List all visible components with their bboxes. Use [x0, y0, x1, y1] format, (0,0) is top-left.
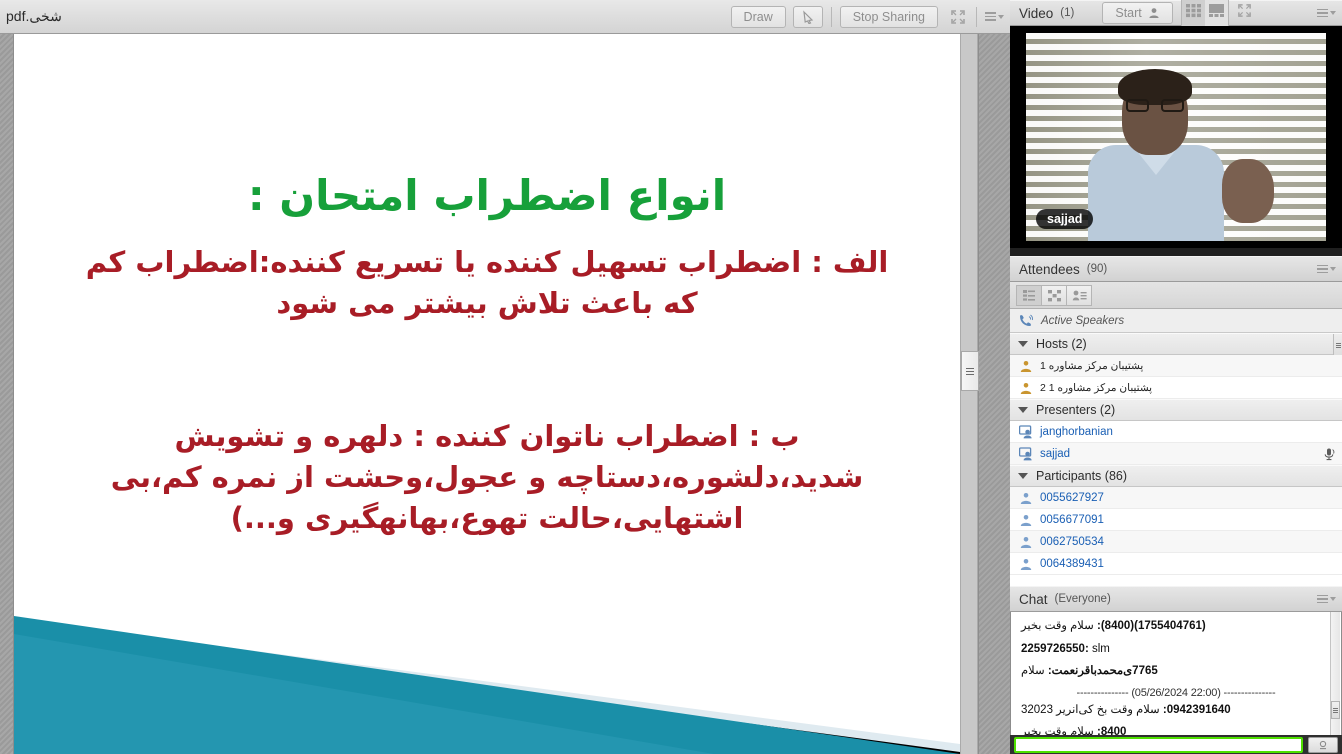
slide-paragraph-a: الف : اضطراب تسهیل کننده یا تسریع کننده:…	[74, 242, 900, 324]
participant-icon	[1019, 535, 1033, 549]
share-panel-splitter[interactable]	[960, 34, 978, 754]
left-hatch-border	[0, 34, 14, 754]
chat-pod-title: Chat	[1019, 592, 1048, 607]
attendee-row[interactable]: 0062750534	[1010, 531, 1342, 553]
pods-view-icon[interactable]	[1041, 285, 1067, 306]
menu-bars	[1317, 265, 1328, 274]
attendees-count: (90)	[1087, 263, 1107, 275]
video-feed[interactable]: sajjad	[1010, 26, 1342, 248]
host-screen-icon	[1019, 381, 1033, 395]
share-pod: شخی.pdf Draw Stop Sharing	[0, 0, 1010, 754]
attendees-list[interactable]: Hosts (2)پشتیبان مرکز مشاوره 1پشتیبان مر…	[1010, 333, 1342, 612]
share-body: انواع اضطراب امتحان : الف : اضطراب تسهیل…	[0, 34, 1010, 754]
phone-speaker-icon	[1018, 314, 1033, 328]
attendee-group-label: Presenters (2)	[1036, 403, 1115, 417]
chat-message: (1755404761)(8400): سلام وقت بخیر	[1021, 619, 1331, 635]
chevron-down-icon	[1330, 267, 1336, 271]
attendee-group-label: Hosts (2)	[1036, 337, 1087, 351]
attendee-name: sajjad	[1040, 448, 1070, 460]
attendee-row[interactable]: 0064389431	[1010, 553, 1342, 575]
start-video-button[interactable]: Start	[1102, 2, 1172, 24]
slide-decoration	[14, 594, 960, 754]
video-pod-title: Video	[1019, 6, 1053, 21]
card-view-icon[interactable]	[1066, 285, 1092, 306]
active-speakers-row[interactable]: Active Speakers	[1010, 309, 1342, 333]
video-pod-count: (1)	[1060, 7, 1074, 19]
chat-message-sender: 8400:	[1097, 726, 1126, 735]
attendees-pod: Attendees (90)	[1010, 256, 1342, 586]
share-pod-titlebar: شخی.pdf Draw Stop Sharing	[0, 0, 1010, 34]
video-stage[interactable]: sajjad	[1010, 26, 1342, 248]
participant-hand	[1222, 159, 1274, 223]
fullscreen-icon[interactable]	[945, 6, 971, 28]
chat-scope: (Everyone)	[1055, 593, 1111, 605]
attendee-row[interactable]: 0055627927	[1010, 487, 1342, 509]
chat-message-text: سلام وقت بخیر	[1021, 726, 1097, 735]
chat-message: 7765ی‌محمدباقرنعمت: سلام	[1021, 664, 1331, 680]
chat-scrollbar-thumb[interactable]	[1331, 701, 1340, 719]
draw-button[interactable]: Draw	[731, 6, 786, 28]
chat-body-wrap: (1755404761)(8400): سلام وقت بخیر2259726…	[1010, 612, 1342, 754]
video-name-badge: sajjad	[1036, 209, 1093, 229]
pod-menu-icon[interactable]	[985, 12, 1004, 21]
chat-input-bar	[1010, 735, 1342, 754]
toolbar-divider	[831, 7, 832, 27]
video-layout-switcher[interactable]	[1181, 0, 1229, 27]
attendee-row[interactable]: janghorbanian	[1010, 421, 1342, 443]
collapse-triangle-icon[interactable]	[1018, 473, 1028, 479]
pointer-arrow-icon[interactable]	[793, 6, 823, 28]
attendee-row[interactable]: sajjad	[1010, 443, 1342, 465]
chat-message-sender: 0942391640:	[1163, 704, 1231, 716]
attendees-body: Active Speakers Hosts (2)پشتیبان مرکز مش…	[1010, 282, 1342, 612]
chat-message: 2259726550: slm	[1021, 642, 1331, 658]
list-view-icon[interactable]	[1016, 285, 1042, 306]
collapse-triangle-icon[interactable]	[1018, 407, 1028, 413]
person-icon	[1148, 7, 1160, 19]
attendee-name: پشتیبان مرکز مشاوره 1 2	[1040, 382, 1156, 394]
participant-glasses	[1126, 99, 1184, 112]
attendees-scrollbar-thumb[interactable]	[1333, 334, 1342, 356]
attendees-pod-menu-icon[interactable]	[1317, 265, 1336, 274]
attendee-group-header-2[interactable]: Participants (86)	[1010, 465, 1342, 487]
video-pod: Video (1) Start	[1010, 0, 1342, 256]
grid-layout-icon[interactable]	[1182, 0, 1205, 26]
menu-bars	[985, 12, 996, 21]
host-icon	[1019, 359, 1033, 373]
attendee-group-label: Participants (86)	[1036, 469, 1127, 483]
attendees-pod-title: Attendees	[1019, 262, 1080, 277]
video-pod-menu-icon[interactable]	[1317, 9, 1336, 18]
chat-pod: Chat (Everyone) (1755404761)(8400): سلام…	[1010, 586, 1342, 754]
slide-title: انواع اضطراب امتحان :	[72, 172, 902, 220]
attendee-group-header-1[interactable]: Presenters (2)	[1010, 399, 1342, 421]
chat-message-text: سلام وقت بخیر	[1021, 620, 1097, 632]
video-fullscreen-icon[interactable]	[1237, 3, 1252, 23]
chevron-down-icon	[1330, 597, 1336, 601]
attendee-row[interactable]: پشتیبان مرکز مشاوره 1 2	[1010, 377, 1342, 399]
menu-bars	[1317, 595, 1328, 604]
participant-icon	[1019, 491, 1033, 505]
participant-icon	[1019, 557, 1033, 571]
attendees-view-toolbar	[1010, 282, 1342, 309]
attendee-name: 0064389431	[1040, 558, 1104, 570]
chevron-down-icon	[1330, 11, 1336, 15]
active-speakers-label: Active Speakers	[1041, 315, 1124, 327]
attendee-name: 0056677091	[1040, 514, 1104, 526]
right-pods-column: Video (1) Start	[1010, 0, 1342, 754]
attendee-group-header-0[interactable]: Hosts (2)	[1010, 333, 1342, 355]
chat-message-sender: 7765ی‌محمدباقرنعمت:	[1048, 665, 1158, 677]
attendee-name: janghorbanian	[1040, 426, 1113, 438]
chat-message-text: سلام	[1021, 665, 1048, 677]
chat-message-sender: (1755404761)(8400):	[1097, 620, 1206, 632]
meeting-window: شخی.pdf Draw Stop Sharing	[0, 0, 1342, 754]
slide-paragraph-b: ب : اضطراب ناتوان کننده : دلهره و تشویش …	[74, 416, 900, 540]
attendee-name: پشتیبان مرکز مشاوره 1	[1040, 360, 1147, 372]
chat-transcript[interactable]: (1755404761)(8400): سلام وقت بخیر2259726…	[1010, 612, 1342, 735]
chat-message-text: سلام وقت بخ کی‌انریر 32023	[1021, 704, 1163, 716]
send-icon[interactable]	[1308, 737, 1338, 753]
chat-message: 8400: سلام وقت بخیر	[1021, 725, 1331, 735]
right-hatch-border	[978, 34, 1010, 754]
shared-file-title: شخی.pdf	[4, 8, 62, 25]
attendee-name: 0062750534	[1040, 536, 1104, 548]
presenter-icon	[1019, 447, 1033, 461]
chat-input[interactable]	[1014, 737, 1303, 753]
slide-canvas[interactable]: انواع اضطراب امتحان : الف : اضطراب تسهیل…	[14, 34, 960, 754]
menu-bars	[1317, 9, 1328, 18]
attendee-row[interactable]: 0056677091	[1010, 509, 1342, 531]
chat-message-sender: 2259726550:	[1021, 643, 1089, 655]
single-layout-icon[interactable]	[1205, 0, 1228, 26]
presenter-icon	[1019, 425, 1033, 439]
attendee-row[interactable]: پشتیبان مرکز مشاوره 1	[1010, 355, 1342, 377]
stop-sharing-button[interactable]: Stop Sharing	[840, 6, 938, 28]
splitter-grip[interactable]	[961, 351, 979, 391]
attendee-name: 0055627927	[1040, 492, 1104, 504]
chat-date-separator: --------------- (05/26/2024 22:00) -----…	[1021, 687, 1331, 699]
chat-message-text: slm	[1089, 643, 1110, 655]
chat-pod-header: Chat (Everyone)	[1010, 586, 1342, 612]
chat-message: 0942391640: سلام وقت بخ کی‌انریر 32023	[1021, 703, 1331, 719]
chat-pod-menu-icon[interactable]	[1317, 595, 1336, 604]
microphone-active-icon[interactable]	[1322, 447, 1336, 461]
chevron-down-icon	[998, 15, 1004, 19]
toolbar-divider-2	[976, 7, 977, 27]
video-pod-header: Video (1) Start	[1010, 0, 1342, 26]
participant-icon	[1019, 513, 1033, 527]
collapse-triangle-icon[interactable]	[1018, 341, 1028, 347]
webcam-image: sajjad	[1026, 33, 1326, 241]
attendees-pod-header: Attendees (90)	[1010, 256, 1342, 282]
